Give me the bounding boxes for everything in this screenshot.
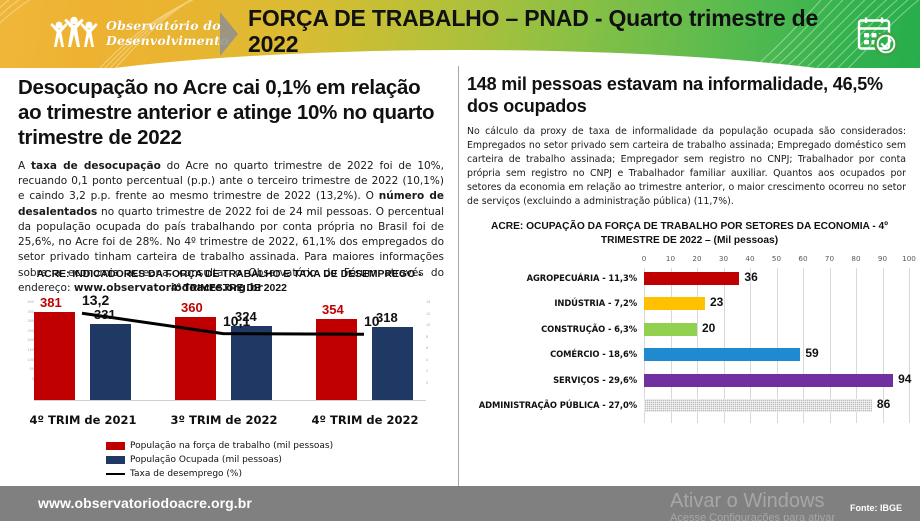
sector-row: INDÚSTRIA - 7,2%23 <box>459 293 920 319</box>
sector-bar <box>644 297 705 310</box>
sector-category-label: COMÉRCIO - 18,6% <box>459 349 637 359</box>
source-label: Fonte: IBGE <box>850 503 902 513</box>
brand-logo-line1: Observatório do <box>106 19 229 34</box>
legend-item: População na força de trabalho (mil pess… <box>106 441 458 451</box>
footer-website-url[interactable]: www.observatoriodoacre.org.br <box>38 495 252 511</box>
sectors-chart-rows: AGROPECUÁRIA - 11,3%36INDÚSTRIA - 7,2%23… <box>459 268 920 421</box>
bar-value-workforce: 381 <box>40 296 62 309</box>
sectors-chart-title: ACRE: OCUPAÇÃO DA FORÇA DE TRABALHO POR … <box>481 220 898 248</box>
sectors-chart-plot: 0102030405060708090100 AGROPECUÁRIA - 11… <box>459 268 920 458</box>
brand-logo: Observatório do Desenvolvimento <box>48 4 216 64</box>
legend-swatch-icon <box>106 456 125 464</box>
left-panel: Desocupação no Acre cai 0,1% em relação … <box>0 68 458 486</box>
workforce-chart-legend: População na força de trabalho (mil pess… <box>106 441 458 479</box>
x-axis-tick: 30 <box>719 254 728 263</box>
sector-bar <box>644 272 739 285</box>
sector-bar <box>644 374 893 387</box>
sector-row: ADMINISTRAÇÃO PÚBLICA - 27,0%86 <box>459 395 920 421</box>
x-axis-label: 3º TRIM de 2022 <box>159 413 289 427</box>
workforce-chart-x-labels: 4º TRIM de 20213º TRIM de 20224º TRIM de… <box>0 413 458 433</box>
sectors-chart: ACRE: OCUPAÇÃO DA FORÇA DE TRABALHO POR … <box>459 220 920 486</box>
sector-row: CONSTRUÇÃO - 6,3%20 <box>459 319 920 345</box>
brand-logo-line2: Desenvolvimento <box>106 34 229 49</box>
watermark-line-2: Acesse Configurações para ativar <box>670 512 920 525</box>
x-axis-tick: 70 <box>825 254 834 263</box>
line-value-label: 13,2 <box>82 293 109 307</box>
sector-bar <box>644 348 800 361</box>
sector-bar-value: 23 <box>710 295 723 309</box>
x-axis-tick: 90 <box>878 254 887 263</box>
right-body-text: No cálculo da proxy de taxa de informali… <box>467 125 906 210</box>
sector-bar <box>644 323 697 336</box>
sector-category-label: CONSTRUÇÃO - 6,3% <box>459 324 637 334</box>
right-headline: 148 mil pessoas estavam na informalidade… <box>467 74 904 118</box>
calendar-check-icon <box>856 14 898 56</box>
body-emphasis: taxa de desocupação <box>31 160 161 172</box>
sector-bar-value: 94 <box>898 372 911 386</box>
x-axis-tick: 0 <box>642 254 647 263</box>
sector-row: SERVIÇOS - 29,6%94 <box>459 370 920 396</box>
page-footer: www.observatoriodoacre.org.br Ativar o W… <box>0 486 920 521</box>
legend-label: População Ocupada (mil pessoas) <box>130 455 282 465</box>
page-header: Observatório do Desenvolvimento FORÇA DE… <box>0 0 920 68</box>
people-logo-icon <box>48 14 100 54</box>
line-value-label: 10 <box>364 314 380 328</box>
workforce-chart-title: ACRE: INDICADORES DA FORÇA DE TRABALHO E… <box>36 268 422 295</box>
body-text: A <box>18 160 31 172</box>
right-panel: 148 mil pessoas estavam na informalidade… <box>459 68 920 486</box>
sector-bar-value: 36 <box>744 270 757 284</box>
sector-category-label: ADMINISTRAÇÃO PÚBLICA - 27,0% <box>459 400 637 410</box>
bar-value-workforce: 360 <box>181 301 203 314</box>
x-axis-tick: 100 <box>902 254 916 263</box>
sector-category-label: SERVIÇOS - 29,6% <box>459 375 637 385</box>
sector-bar-value: 20 <box>702 321 715 335</box>
x-axis-tick: 40 <box>745 254 754 263</box>
sector-row: COMÉRCIO - 18,6%59 <box>459 344 920 370</box>
legend-item: Taxa de desemprego (%) <box>106 469 458 479</box>
sector-row: AGROPECUÁRIA - 11,3%36 <box>459 268 920 294</box>
x-axis-label: 4º TRIM de 2022 <box>300 413 430 427</box>
sector-category-label: INDÚSTRIA - 7,2% <box>459 298 637 308</box>
legend-item: População Ocupada (mil pessoas) <box>106 455 458 465</box>
sector-category-label: AGROPECUÁRIA - 11,3% <box>459 273 637 283</box>
bar-value-workforce: 354 <box>322 303 344 316</box>
x-axis-tick: 80 <box>851 254 860 263</box>
x-axis-tick: 20 <box>692 254 701 263</box>
sector-bar-value: 59 <box>805 346 818 360</box>
bar-value-employed: 331 <box>94 308 116 321</box>
brand-logo-text: Observatório do Desenvolvimento <box>106 19 229 49</box>
legend-swatch-icon <box>106 473 125 476</box>
x-axis-tick: 60 <box>798 254 807 263</box>
x-axis-tick: 10 <box>666 254 675 263</box>
left-headline: Desocupação no Acre cai 0,1% em relação … <box>18 75 444 150</box>
legend-label: População na força de trabalho (mil pess… <box>130 441 333 451</box>
x-axis-label: 4º TRIM de 2021 <box>18 413 148 427</box>
workforce-chart-plot: 400350300250200150100500 14121086420 381… <box>0 301 458 411</box>
arrow-separator-icon <box>218 12 240 56</box>
legend-swatch-icon <box>106 442 125 450</box>
legend-label: Taxa de desemprego (%) <box>130 469 242 479</box>
line-value-label: 10,1 <box>223 314 250 328</box>
workforce-chart: ACRE: INDICADORES DA FORÇA DE TRABALHO E… <box>0 268 458 486</box>
x-axis-tick: 50 <box>772 254 781 263</box>
sector-bar-value: 86 <box>877 397 890 411</box>
sector-bar <box>644 399 872 412</box>
page-title: FORÇA DE TRABALHO – PNAD - Quarto trimes… <box>248 5 838 58</box>
sectors-chart-x-axis: 0102030405060708090100 <box>644 254 910 266</box>
